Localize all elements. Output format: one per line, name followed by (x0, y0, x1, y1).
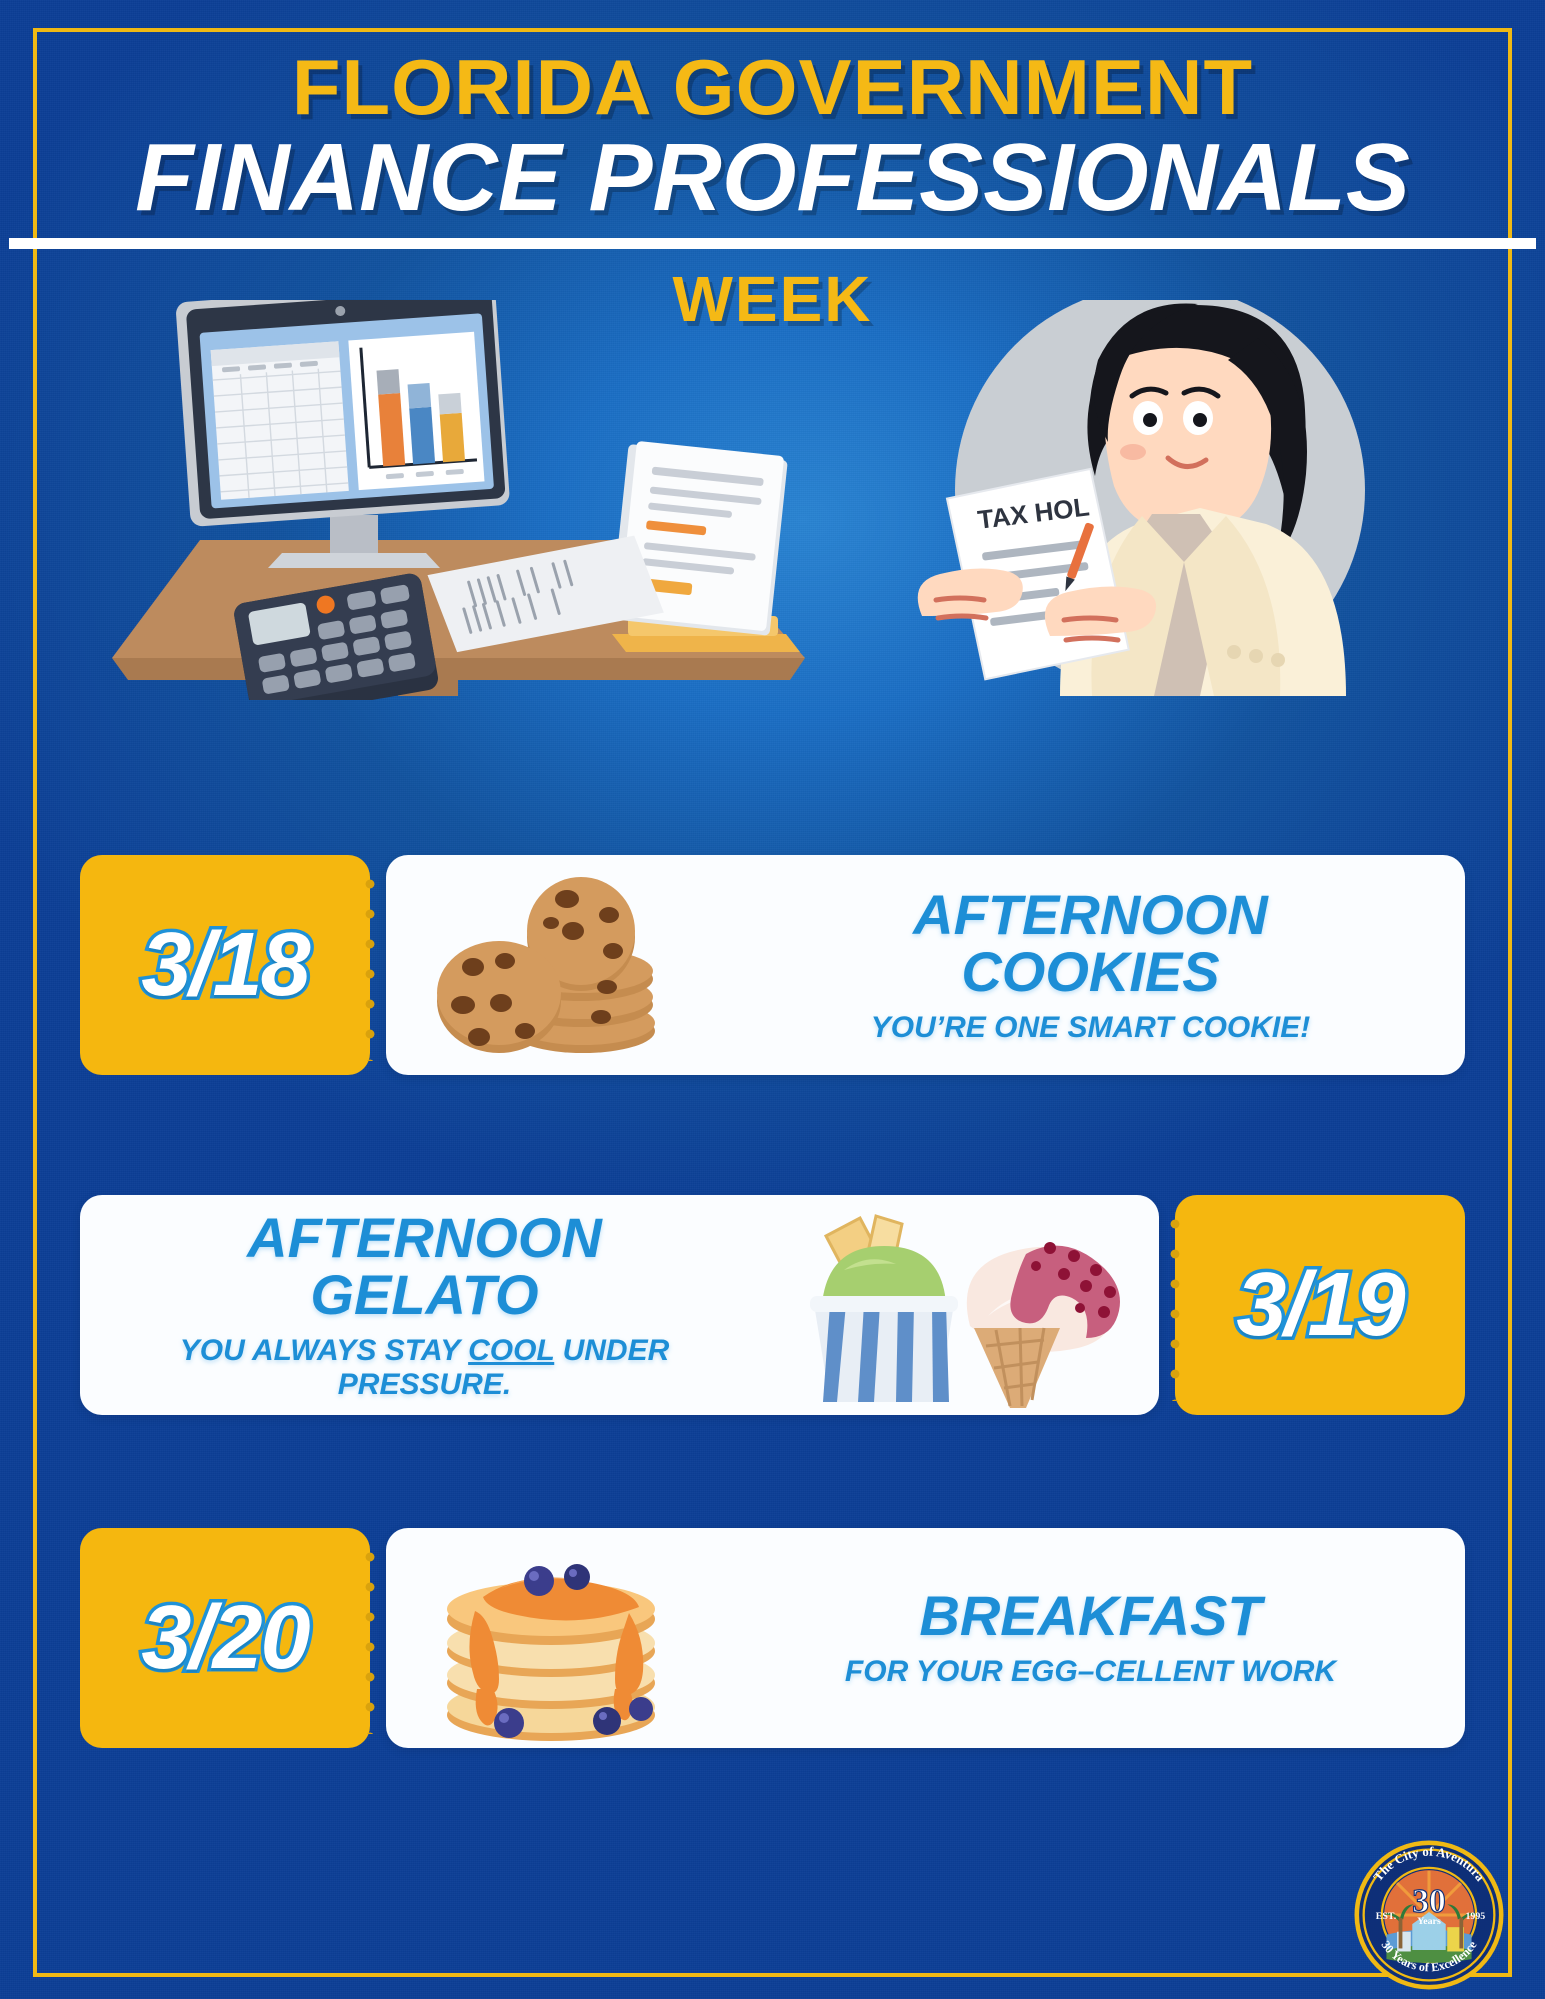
seal-center-word: Years (1417, 1916, 1441, 1927)
event-copy-3: BREAKFAST FOR YOUR EGG–CELLENT WORK (716, 1587, 1465, 1688)
seal-center-number: 30 (1412, 1883, 1445, 1920)
poster-header: FLORIDA GOVERNMENT FINANCE PROFESSIONALS… (0, 48, 1545, 336)
title-line-2: FINANCE PROFESSIONALS (0, 130, 1545, 226)
event-row-1[interactable]: 3/18 (80, 855, 1465, 1075)
event-title-line1: BREAKFAST (742, 1587, 1439, 1645)
event-row-3[interactable]: 3/20 (80, 1528, 1465, 1748)
date-badge-label: 3/19 (1236, 1254, 1403, 1357)
poster-canvas: FLORIDA GOVERNMENT FINANCE PROFESSIONALS… (0, 0, 1545, 1999)
date-badge-3-19[interactable]: 3/19 (1175, 1195, 1465, 1415)
title-line-3: WEEK (0, 262, 1545, 336)
event-copy-2: AFTERNOON GELATO YOU ALWAYS STAY COOL UN… (80, 1209, 769, 1402)
seal-est-label: EST. (1376, 1911, 1397, 1922)
perforation-edge (365, 869, 375, 1061)
event-copy-1: AFTERNOON COOKIES YOU’RE ONE SMART COOKI… (716, 886, 1465, 1045)
perforation-edge (365, 1542, 375, 1734)
hero-illustration: TAX HOL (0, 300, 1545, 700)
event-card-2[interactable]: AFTERNOON GELATO YOU ALWAYS STAY COOL UN… (80, 1195, 1159, 1415)
event-title-line1: AFTERNOON (106, 1209, 743, 1267)
document-stand-icon (610, 440, 800, 652)
event-row-2[interactable]: AFTERNOON GELATO YOU ALWAYS STAY COOL UN… (80, 1195, 1465, 1415)
finance-person-icon: TAX HOL (918, 300, 1365, 696)
date-badge-label: 3/20 (141, 1587, 308, 1690)
event-title-line1: AFTERNOON (742, 886, 1439, 944)
event-subtitle: YOU ALWAYS STAY COOL UNDER PRESSURE. (106, 1334, 743, 1401)
event-title-line2: COOKIES (742, 943, 1439, 1001)
gelato-icon (769, 1195, 1159, 1415)
perforation-edge (1170, 1209, 1180, 1401)
city-of-aventura-seal: 30 Years The City of Aventura 30 Years o… (1353, 1839, 1505, 1991)
cookies-icon (386, 855, 716, 1075)
seal-year-label: 1995 (1465, 1911, 1485, 1922)
date-badge-3-20[interactable]: 3/20 (80, 1528, 370, 1748)
title-divider-rule (0, 230, 1545, 254)
pancakes-icon (386, 1528, 716, 1748)
title-line-1: FLORIDA GOVERNMENT (0, 48, 1545, 128)
event-subtitle: YOU’RE ONE SMART COOKIE! (742, 1011, 1439, 1045)
date-badge-3-18[interactable]: 3/18 (80, 855, 370, 1075)
white-rule (9, 238, 1536, 249)
event-card-1[interactable]: AFTERNOON COOKIES YOU’RE ONE SMART COOKI… (386, 855, 1465, 1075)
event-title-line2: GELATO (106, 1266, 743, 1324)
subtitle-underlined: COOL (468, 1334, 554, 1367)
event-card-3[interactable]: BREAKFAST FOR YOUR EGG–CELLENT WORK (386, 1528, 1465, 1748)
date-badge-label: 3/18 (141, 914, 308, 1017)
event-subtitle: FOR YOUR EGG–CELLENT WORK (742, 1655, 1439, 1689)
subtitle-pre: YOU ALWAYS STAY (180, 1334, 468, 1367)
